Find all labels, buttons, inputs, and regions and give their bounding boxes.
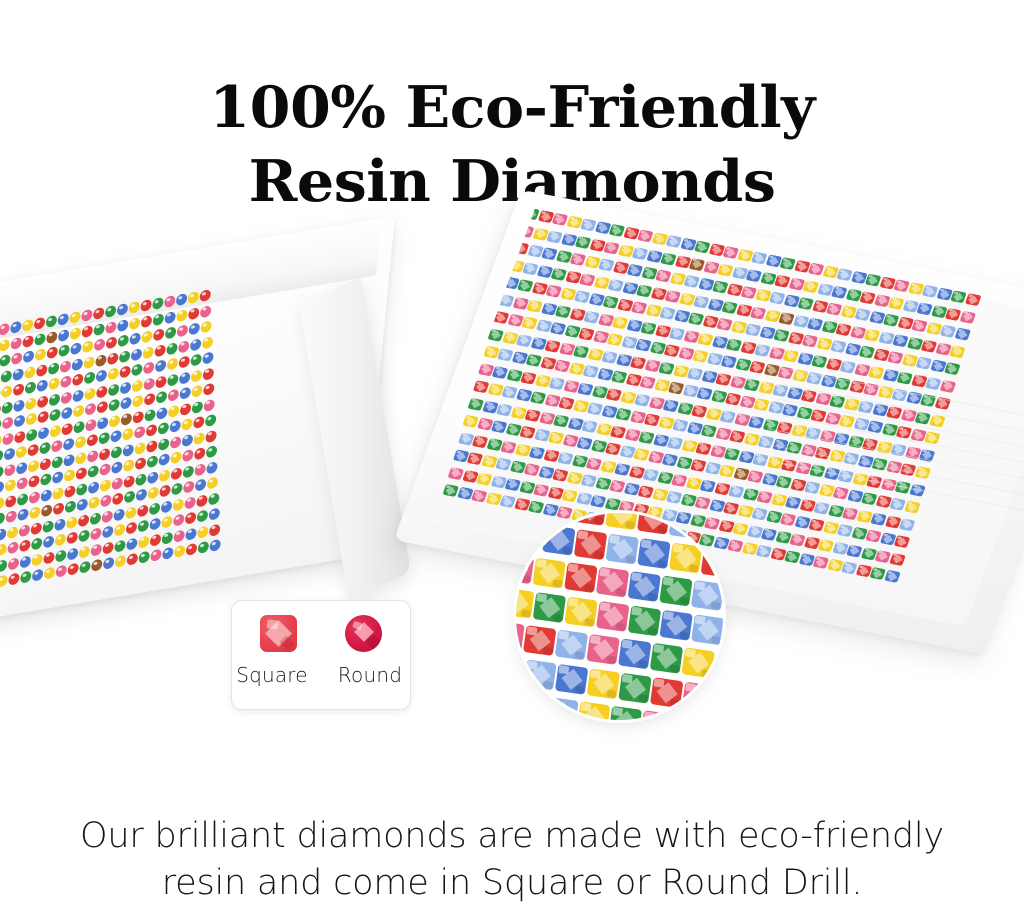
drill-facet-shadow bbox=[530, 542, 540, 550]
round-drill bbox=[134, 441, 146, 454]
square-drill bbox=[726, 338, 743, 351]
round-drill bbox=[112, 492, 124, 505]
round-drill bbox=[164, 311, 176, 324]
drill-facet-shadow bbox=[625, 521, 635, 529]
drill-facet-shadow bbox=[711, 636, 721, 644]
round-drill bbox=[86, 434, 98, 447]
round-drill bbox=[108, 399, 120, 412]
square-drill bbox=[612, 316, 629, 329]
round-drill bbox=[41, 504, 53, 517]
round-drill bbox=[62, 438, 74, 451]
round-drill bbox=[179, 371, 191, 384]
round-drill bbox=[114, 539, 126, 552]
round-drill bbox=[208, 492, 220, 505]
round-drill bbox=[190, 353, 202, 366]
square-drill bbox=[954, 328, 971, 341]
round-drill bbox=[27, 459, 39, 472]
square-drill bbox=[615, 408, 632, 421]
magnified-square-drill bbox=[564, 562, 597, 593]
round-drill bbox=[39, 457, 51, 470]
magnified-square-drill bbox=[564, 597, 597, 628]
round-drill bbox=[127, 553, 139, 566]
round-drill bbox=[90, 527, 102, 540]
round-drill bbox=[143, 377, 155, 390]
square-gem-icon bbox=[260, 615, 297, 652]
round-drill bbox=[132, 395, 144, 408]
magnified-square-drill bbox=[628, 605, 661, 636]
round-drill bbox=[49, 408, 61, 421]
round-drill bbox=[2, 416, 14, 429]
drill-facet-shadow bbox=[575, 685, 585, 693]
round-drill bbox=[71, 358, 83, 371]
drill-facet-shadow bbox=[647, 593, 657, 601]
round-drill bbox=[205, 430, 217, 443]
round-drill bbox=[16, 461, 28, 474]
round-drill bbox=[111, 461, 123, 474]
round-drill bbox=[37, 410, 49, 423]
round-drill bbox=[47, 346, 59, 359]
drill-facet-shadow bbox=[530, 513, 540, 516]
round-drill bbox=[79, 545, 91, 558]
round-drill bbox=[73, 404, 85, 417]
square-drill bbox=[505, 478, 522, 491]
round-drill bbox=[153, 313, 165, 326]
round-drill bbox=[113, 508, 125, 521]
drill-facet-shadow bbox=[562, 513, 572, 520]
round-drill bbox=[172, 498, 184, 511]
round-drill bbox=[100, 479, 112, 492]
square-drill bbox=[609, 224, 626, 237]
round-gem-icon bbox=[345, 615, 382, 652]
round-drill bbox=[188, 307, 200, 320]
drill-facet-shadow bbox=[721, 569, 723, 577]
round-drill bbox=[37, 395, 49, 408]
round-drill bbox=[41, 488, 53, 501]
round-drill bbox=[65, 516, 77, 529]
round-drill bbox=[131, 363, 143, 376]
round-drill bbox=[170, 451, 182, 464]
round-drill bbox=[196, 494, 208, 507]
square-gem-highlight bbox=[266, 619, 278, 629]
round-drill bbox=[101, 510, 113, 523]
magnified-square-drill bbox=[542, 513, 575, 521]
round-drill bbox=[187, 291, 199, 304]
round-drill bbox=[108, 383, 120, 396]
round-drill bbox=[125, 506, 137, 519]
round-drill bbox=[62, 422, 74, 435]
round-drill bbox=[168, 389, 180, 402]
magnified-square-drill bbox=[650, 677, 683, 708]
round-drill bbox=[26, 428, 38, 441]
round-drill bbox=[99, 463, 111, 476]
round-drill bbox=[174, 545, 186, 558]
drill-facet-shadow bbox=[702, 703, 712, 711]
round-drill bbox=[20, 570, 32, 583]
round-drill bbox=[98, 447, 110, 460]
round-drill bbox=[102, 525, 114, 538]
magnified-square-drill bbox=[606, 534, 639, 565]
round-drill bbox=[193, 432, 205, 445]
round-drill bbox=[64, 469, 76, 482]
round-drill bbox=[35, 348, 47, 361]
round-drill bbox=[197, 525, 209, 538]
square-drill bbox=[554, 359, 571, 372]
round-drill bbox=[198, 541, 210, 554]
drill-facet-shadow bbox=[679, 597, 689, 605]
round-drill bbox=[0, 559, 8, 572]
square-label: Square bbox=[236, 663, 308, 687]
drill-facet-shadow bbox=[648, 627, 658, 635]
round-drill bbox=[93, 322, 105, 335]
magnified-square-drill bbox=[523, 659, 556, 690]
round-drill bbox=[54, 518, 66, 531]
round-drill bbox=[194, 463, 206, 476]
magnified-square-drill bbox=[669, 543, 702, 574]
square-drill bbox=[779, 312, 796, 325]
round-drill bbox=[56, 565, 68, 578]
round-drill bbox=[166, 357, 178, 370]
round-drill bbox=[182, 449, 194, 462]
round-drill bbox=[6, 526, 18, 539]
round-drill bbox=[23, 350, 35, 363]
round-drill bbox=[55, 549, 67, 562]
round-drill bbox=[129, 317, 141, 330]
square-drill bbox=[448, 467, 465, 480]
magnified-square-drill bbox=[516, 692, 547, 720]
square-drill bbox=[614, 463, 631, 476]
square-drill bbox=[533, 483, 550, 496]
round-drill bbox=[149, 517, 161, 530]
round-drill bbox=[123, 475, 135, 488]
round-drill bbox=[201, 336, 213, 349]
round-drill bbox=[110, 430, 122, 443]
round-drill bbox=[113, 523, 125, 536]
round-drill bbox=[141, 330, 153, 343]
drill-facet-shadow bbox=[594, 516, 604, 524]
drill-facet-shadow bbox=[565, 718, 575, 720]
round-drill bbox=[67, 547, 79, 560]
round-drill bbox=[121, 412, 133, 425]
round-drill bbox=[209, 539, 221, 552]
round-drill bbox=[0, 574, 8, 587]
round-drill bbox=[109, 414, 121, 427]
round-drill bbox=[166, 342, 178, 355]
round-drill bbox=[0, 450, 3, 463]
round-drill bbox=[169, 420, 181, 433]
round-drill bbox=[119, 365, 131, 378]
square-drill bbox=[587, 402, 604, 415]
round-drill bbox=[186, 543, 198, 556]
caption-line-1: Our brilliant diamonds are made with eco… bbox=[50, 813, 974, 860]
square-drill bbox=[557, 451, 574, 464]
round-drill bbox=[103, 557, 115, 570]
round-drill bbox=[195, 478, 207, 491]
round-drill bbox=[52, 471, 64, 484]
round-drill bbox=[116, 303, 128, 316]
round-drill bbox=[144, 393, 156, 406]
round-drill bbox=[128, 301, 140, 314]
round-drill bbox=[115, 555, 127, 568]
magnified-square-drill bbox=[669, 513, 702, 539]
drill-facet-shadow bbox=[584, 618, 594, 626]
round-drill bbox=[152, 297, 164, 310]
round-drill bbox=[44, 567, 56, 580]
round-drill bbox=[207, 476, 219, 489]
round-drill bbox=[10, 321, 22, 334]
round-drill bbox=[171, 482, 183, 495]
round-drill bbox=[201, 320, 213, 333]
drill-facet-shadow bbox=[584, 584, 594, 592]
drill-facet-shadow bbox=[516, 677, 521, 685]
round-drill bbox=[4, 463, 16, 476]
round-drill bbox=[173, 514, 185, 527]
magnified-square-drill bbox=[700, 513, 723, 544]
round-drill bbox=[204, 414, 216, 427]
round-drill bbox=[100, 494, 112, 507]
round-drill bbox=[158, 453, 170, 466]
magnified-square-drill bbox=[574, 513, 607, 526]
round-drill bbox=[107, 352, 119, 365]
round-drill bbox=[50, 424, 62, 437]
square-drill bbox=[669, 327, 686, 340]
round-drill bbox=[131, 379, 143, 392]
round-drill bbox=[200, 305, 212, 318]
round-drill bbox=[0, 496, 5, 509]
square-drill bbox=[473, 380, 490, 393]
round-drill bbox=[0, 528, 6, 541]
round-drill bbox=[38, 426, 50, 439]
round-drill bbox=[140, 299, 152, 312]
magnified-square-drill bbox=[691, 580, 723, 611]
round-drill bbox=[181, 433, 193, 446]
square-drill bbox=[637, 229, 654, 242]
magnified-square-drill bbox=[555, 664, 588, 695]
caption-text: Our brilliant diamonds are made with eco… bbox=[50, 813, 974, 907]
magnified-square-drill bbox=[605, 513, 638, 530]
round-drill bbox=[156, 391, 168, 404]
round-drill bbox=[30, 522, 42, 535]
square-drill bbox=[529, 446, 546, 459]
round-drill bbox=[25, 397, 37, 410]
round-drill bbox=[14, 430, 26, 443]
round-drill bbox=[107, 367, 119, 380]
round-drill bbox=[178, 340, 190, 353]
drill-facet-shadow bbox=[543, 681, 553, 689]
round-drill bbox=[83, 356, 95, 369]
round-drill bbox=[208, 508, 220, 521]
round-drill bbox=[65, 500, 77, 513]
round-drill bbox=[138, 551, 150, 564]
round-drill bbox=[83, 371, 95, 384]
square-drill bbox=[944, 362, 961, 375]
square-drill bbox=[779, 257, 796, 270]
square-drill bbox=[644, 413, 661, 426]
square-drill bbox=[530, 391, 547, 404]
magnified-square-drill bbox=[532, 558, 565, 589]
magnified-square-drill bbox=[628, 571, 661, 602]
square-drill bbox=[753, 398, 770, 411]
round-drill bbox=[0, 354, 11, 367]
drill-facet-shadow bbox=[543, 647, 553, 655]
square-drill bbox=[618, 500, 635, 513]
square-drill bbox=[666, 235, 683, 248]
square-drill bbox=[558, 397, 575, 410]
drill-facet-shadow bbox=[552, 579, 562, 587]
round-drill bbox=[209, 523, 221, 536]
square-drill bbox=[949, 345, 966, 358]
round-drill bbox=[87, 449, 99, 462]
round-drill bbox=[183, 465, 195, 478]
shape-badge-labels: Square Round bbox=[232, 663, 410, 687]
drill-facet-shadow bbox=[720, 534, 723, 542]
round-drill bbox=[165, 326, 177, 339]
magnified-square-drill bbox=[516, 553, 534, 584]
round-drill bbox=[17, 492, 29, 505]
round-drill bbox=[180, 402, 192, 415]
round-drill bbox=[168, 404, 180, 417]
round-drill bbox=[176, 293, 188, 306]
square-drill bbox=[526, 354, 543, 367]
square-drill bbox=[696, 387, 713, 400]
round-drill bbox=[0, 512, 6, 525]
round-drill bbox=[164, 295, 176, 308]
round-drill bbox=[50, 440, 62, 453]
round-drill bbox=[1, 385, 13, 398]
round-drill bbox=[72, 373, 84, 386]
magnified-square-drill bbox=[713, 686, 723, 717]
magnified-square-drill bbox=[587, 668, 620, 699]
magnified-square-drill bbox=[609, 706, 642, 720]
drill-facet-highlight bbox=[675, 716, 686, 720]
round-drill bbox=[64, 485, 76, 498]
drill-facet-shadow bbox=[670, 664, 680, 672]
round-drill bbox=[1, 401, 13, 414]
round-drill bbox=[93, 307, 105, 320]
round-drill bbox=[52, 486, 64, 499]
magnified-square-drill bbox=[691, 614, 723, 645]
magnified-square-drill bbox=[516, 513, 544, 517]
round-drill bbox=[118, 334, 130, 347]
drill-facet-shadow bbox=[516, 642, 521, 650]
round-drill bbox=[5, 494, 17, 507]
magnified-square-drill bbox=[704, 719, 723, 720]
poster-root: 100% Eco-Friendly Resin Diamonds bbox=[0, 0, 1024, 923]
shape-badge-card[interactable]: Square Round bbox=[231, 600, 411, 710]
round-drill bbox=[32, 569, 44, 582]
round-drill bbox=[178, 355, 190, 368]
round-drill bbox=[85, 418, 97, 431]
round-drill bbox=[153, 328, 165, 341]
round-drill bbox=[155, 375, 167, 388]
drill-facet-shadow bbox=[562, 546, 572, 554]
drill-facet-highlight bbox=[717, 653, 723, 662]
drill-facet-shadow bbox=[521, 575, 531, 583]
round-drill bbox=[135, 473, 147, 486]
round-drill bbox=[12, 368, 24, 381]
round-drill bbox=[8, 557, 20, 570]
square-drill bbox=[959, 310, 976, 323]
round-drill bbox=[179, 387, 191, 400]
round-drill bbox=[169, 435, 181, 448]
square-drill bbox=[555, 305, 572, 318]
round-drill bbox=[106, 336, 118, 349]
drill-facet-shadow bbox=[679, 632, 689, 640]
drill-facet-shadow bbox=[594, 551, 604, 559]
round-drill bbox=[147, 471, 159, 484]
magnified-square-drill bbox=[545, 697, 578, 720]
square-drill bbox=[526, 299, 543, 312]
square-drill bbox=[580, 218, 597, 231]
drill-facet-shadow bbox=[607, 690, 617, 698]
round-drill bbox=[125, 521, 137, 534]
round-drill bbox=[112, 477, 124, 490]
round-drill bbox=[60, 375, 72, 388]
round-drill bbox=[70, 342, 82, 355]
magnified-square-drill bbox=[523, 625, 556, 656]
drill-facet-shadow bbox=[616, 623, 626, 631]
round-drill bbox=[16, 477, 28, 490]
round-drill bbox=[160, 500, 172, 513]
square-drill bbox=[500, 440, 517, 453]
magnified-square-drill bbox=[516, 588, 534, 619]
square-drill bbox=[639, 376, 656, 389]
drill-facet-shadow bbox=[533, 714, 543, 720]
round-drill bbox=[122, 428, 134, 441]
drill-facet-shadow bbox=[657, 560, 667, 568]
square-drill bbox=[722, 246, 739, 259]
round-drill bbox=[67, 563, 79, 576]
round-drill bbox=[58, 328, 70, 341]
round-drill bbox=[42, 535, 54, 548]
round-drill bbox=[77, 514, 89, 527]
round-drill bbox=[130, 348, 142, 361]
round-drill bbox=[136, 504, 148, 517]
round-drill bbox=[27, 444, 39, 457]
round-drill bbox=[96, 385, 108, 398]
round-drill bbox=[141, 315, 153, 328]
round-drill bbox=[202, 351, 214, 364]
round-drill bbox=[31, 553, 43, 566]
round-drill bbox=[19, 555, 31, 568]
magnifier-content bbox=[516, 513, 723, 720]
round-drill bbox=[203, 383, 215, 396]
round-drill bbox=[8, 572, 20, 585]
drill-facet-shadow bbox=[625, 555, 635, 563]
round-drill bbox=[167, 373, 179, 386]
round-drill bbox=[74, 420, 86, 433]
square-drill bbox=[640, 321, 657, 334]
round-drill bbox=[154, 359, 166, 372]
round-drill bbox=[97, 401, 109, 414]
round-drill bbox=[206, 445, 218, 458]
round-drill bbox=[18, 524, 30, 537]
square-drill bbox=[922, 285, 939, 298]
square-drill bbox=[583, 365, 600, 378]
round-drill bbox=[14, 414, 26, 427]
round-drill bbox=[189, 338, 201, 351]
round-drill bbox=[79, 561, 91, 574]
square-drill bbox=[964, 293, 981, 306]
round-drill bbox=[148, 502, 160, 515]
round-drill bbox=[91, 559, 103, 572]
round-drill bbox=[146, 455, 158, 468]
round-drill bbox=[60, 391, 72, 404]
round-drill bbox=[98, 432, 110, 445]
round-drill bbox=[105, 320, 117, 333]
square-drill bbox=[893, 279, 910, 292]
magnified-square-drill bbox=[681, 647, 714, 678]
square-drill bbox=[865, 274, 882, 287]
